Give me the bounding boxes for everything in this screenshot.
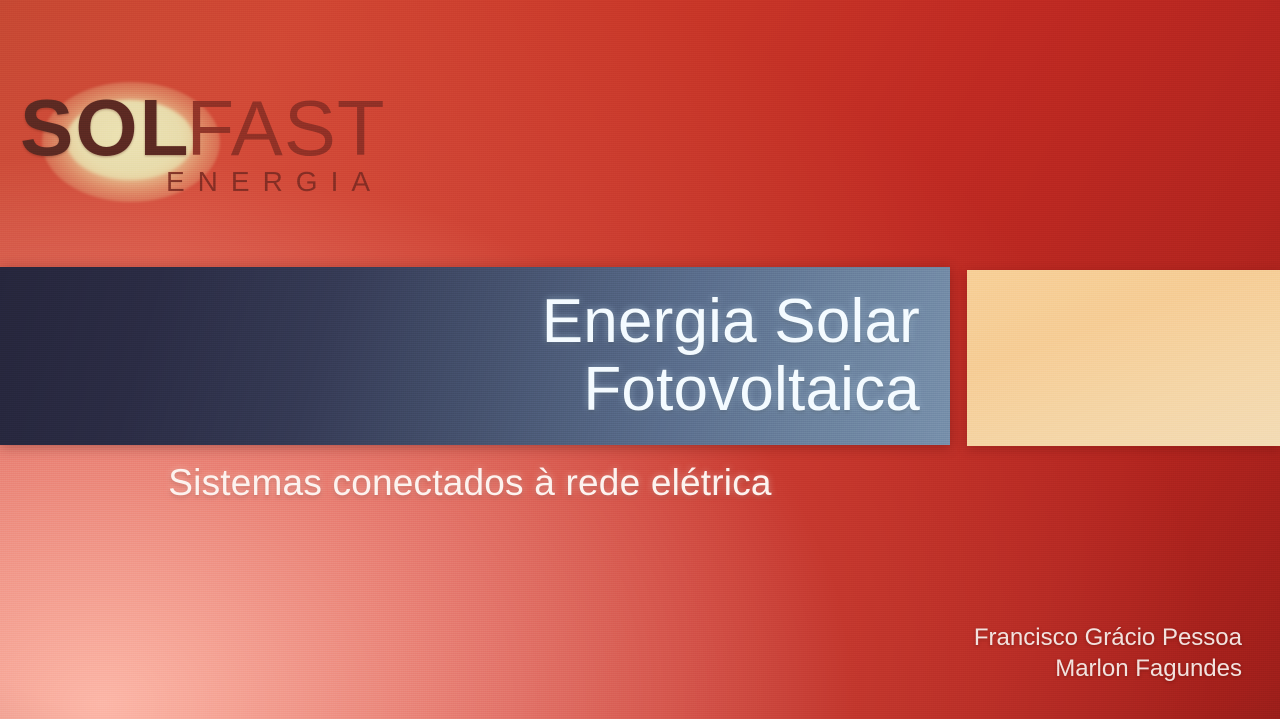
logo-wordmark: SOLFAST — [20, 88, 386, 168]
logo-sol-o: O — [75, 83, 139, 172]
logo-sol-s: S — [20, 83, 75, 172]
logo-tagline: ENERGIA — [166, 166, 383, 198]
cream-accent-panel — [967, 270, 1280, 446]
solfast-logo: SOLFAST ENERGIA — [14, 74, 414, 204]
title-band: Energia Solar Fotovoltaica — [0, 267, 950, 445]
author-name: Francisco Grácio Pessoa — [974, 622, 1242, 653]
page-title-line-1: Energia Solar — [542, 288, 920, 356]
logo-sol-l: L — [140, 83, 191, 172]
authors-list: Francisco Grácio Pessoa Marlon Fagundes — [974, 622, 1242, 684]
author-name: Marlon Fagundes — [974, 653, 1242, 684]
page-title-line-2: Fotovoltaica — [542, 356, 920, 424]
page-subtitle: Sistemas conectados à rede elétrica — [0, 462, 940, 504]
presentation-slide: SOLFAST ENERGIA Energia Solar Fotovoltai… — [0, 0, 1280, 719]
logo-fast: FAST — [186, 84, 385, 172]
page-title: Energia Solar Fotovoltaica — [542, 288, 950, 424]
